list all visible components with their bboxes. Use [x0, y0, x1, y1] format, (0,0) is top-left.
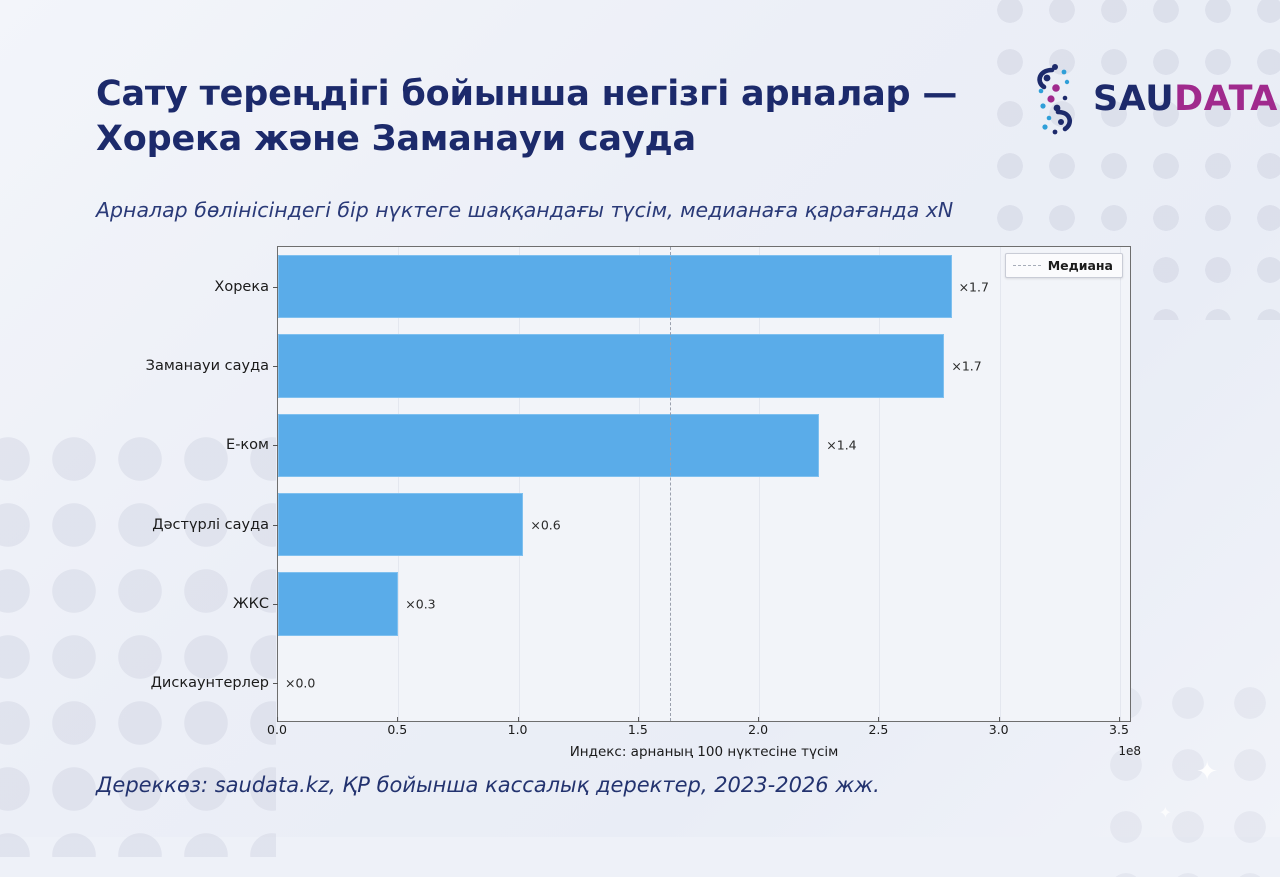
y-axis-tick-label: ЖКС	[233, 596, 269, 612]
plot-area: ×1.7Хорека×1.7Заманауи сауда×1.4Е-ком×0.…	[278, 247, 1130, 721]
bar-value-label: ×0.0	[285, 676, 315, 691]
x-axis-exponent: 1e8	[1118, 744, 1141, 758]
x-axis-tick-label: 1.0	[508, 722, 528, 737]
x-axis-tick-mark	[638, 717, 639, 722]
page-title: Сату тереңдігі бойынша негізгі арналар —…	[96, 72, 976, 162]
y-axis-tick-label: Дәстүрлі сауда	[152, 517, 269, 533]
x-axis-tick-mark	[1119, 717, 1120, 722]
y-axis-tick-label: Заманауи сауда	[146, 358, 269, 374]
bar-value-label: ×0.6	[530, 517, 560, 532]
x-axis-tick-mark	[518, 717, 519, 722]
bar-row[interactable]: ×1.4Е-ком	[278, 414, 1130, 477]
bar-row[interactable]: ×0.0Дискаунтерлер	[278, 652, 1130, 715]
y-axis-tick-mark	[273, 604, 278, 605]
y-axis-tick-mark	[273, 525, 278, 526]
chart-legend: Медиана	[1005, 253, 1123, 278]
x-axis-tick-mark	[878, 717, 879, 722]
brand-logo-sau: SAU	[1093, 79, 1174, 119]
page-subtitle: Арналар бөлінісіндегі бір нүктеге шаққан…	[96, 198, 1056, 222]
bar-chart: ×1.7Хорека×1.7Заманауи сауда×1.4Е-ком×0.…	[277, 246, 1131, 722]
bar-value-label: ×1.7	[951, 358, 981, 373]
bar[interactable]	[278, 334, 944, 397]
bar-value-label: ×1.4	[826, 438, 856, 453]
x-axis-tick-mark	[397, 717, 398, 722]
bar-value-label: ×1.7	[959, 279, 989, 294]
legend-label-median: Медиана	[1048, 258, 1113, 273]
bar-row[interactable]: ×0.3ЖКС	[278, 572, 1130, 635]
sparkle-icon: ✦	[1196, 759, 1218, 785]
y-axis-tick-mark	[273, 683, 278, 684]
x-axis-tick-mark	[999, 717, 1000, 722]
saudata-dots-s-mark-icon	[1025, 60, 1085, 138]
y-axis-tick-mark	[273, 366, 278, 367]
y-axis-tick-mark	[273, 287, 278, 288]
bar-value-label: ×0.3	[405, 596, 435, 611]
y-axis-tick-mark	[273, 445, 278, 446]
bar-row[interactable]: ×1.7Заманауи сауда	[278, 334, 1130, 397]
x-axis-tick-label: 0.0	[267, 722, 287, 737]
median-reference-line	[670, 247, 671, 721]
bar[interactable]	[278, 255, 952, 318]
bar[interactable]	[278, 414, 819, 477]
y-axis-tick-label: Дискаунтерлер	[151, 675, 269, 691]
x-axis-tick-mark	[758, 717, 759, 722]
bar-row[interactable]: ×0.6Дәстүрлі сауда	[278, 493, 1130, 556]
x-axis-tick-label: 2.5	[868, 722, 888, 737]
x-axis-tick-label: 0.5	[387, 722, 407, 737]
bar-row[interactable]: ×1.7Хорека	[278, 255, 1130, 318]
x-axis-tick-mark	[277, 717, 278, 722]
x-axis-tick-label: 3.0	[989, 722, 1009, 737]
sparkle-small-icon: ✦	[1159, 805, 1172, 821]
legend-dashed-line-icon	[1013, 265, 1041, 266]
x-axis-tick-label: 2.0	[748, 722, 768, 737]
y-axis-tick-label: Е-ком	[226, 437, 269, 453]
brand-logo: SAUDATA	[1025, 58, 1250, 140]
brand-logo-data: DATA	[1174, 79, 1278, 119]
bar[interactable]	[278, 572, 398, 635]
brand-logo-text: SAUDATA	[1093, 79, 1278, 119]
source-note: Дереккөз: saudata.kz, ҚР бойынша кассалы…	[96, 773, 880, 797]
x-axis-tick-label: 3.5	[1109, 722, 1129, 737]
y-axis-tick-label: Хорека	[214, 279, 269, 295]
x-axis-label: Индекс: арнаның 100 нүктесіне түсім	[277, 744, 1131, 760]
bar[interactable]	[278, 493, 523, 556]
x-axis-tick-label: 1.5	[628, 722, 648, 737]
